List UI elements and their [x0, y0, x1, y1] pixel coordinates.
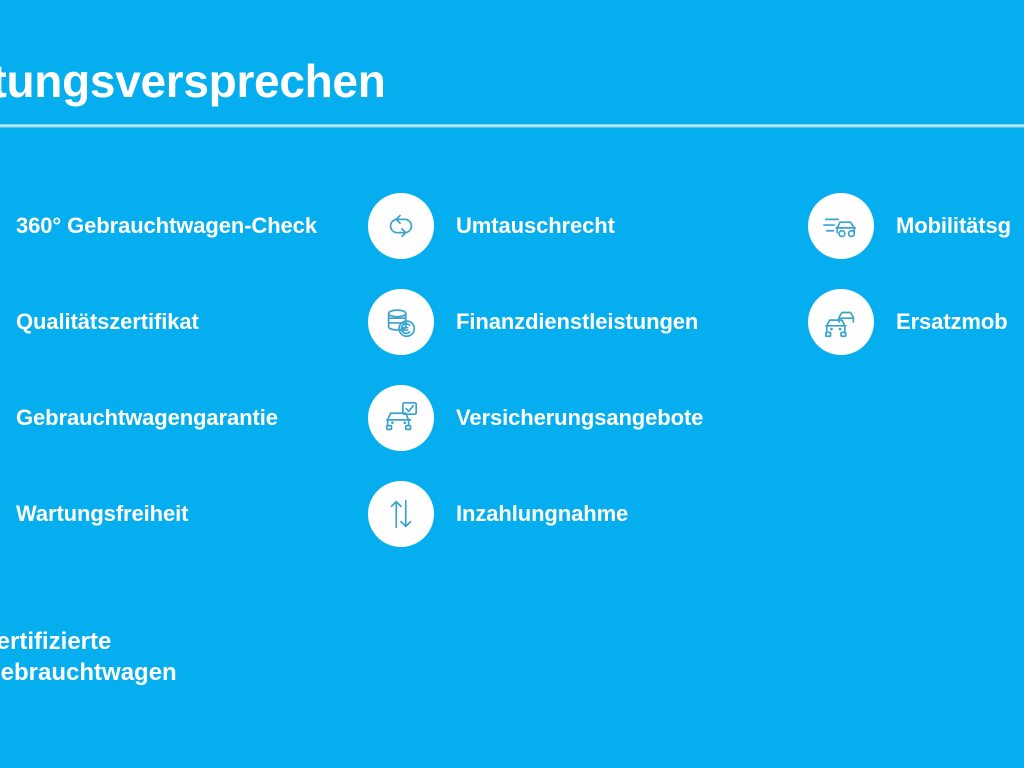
- feature-item[interactable]: Versicherungsangebote: [368, 370, 808, 466]
- car-motion-icon: [808, 193, 874, 259]
- feature-label: Inzahlungnahme: [456, 501, 628, 527]
- logo-lockup: Zertifizierte Gebrauchtwagen: [0, 626, 402, 688]
- car-checkmark-icon: [368, 385, 434, 451]
- feature-label: Qualitätszertifikat: [16, 309, 199, 335]
- feature-label: Ersatzmob: [896, 309, 1008, 335]
- two-cars-icon: [808, 289, 874, 355]
- features-grid: 360° Gebrauchtwagen-Check Qualitätszerti…: [0, 178, 1024, 598]
- feature-item[interactable]: 360° Gebrauchtwagen-Check: [0, 178, 398, 274]
- header-divider: [0, 124, 1024, 128]
- logo-line-1: Zertifizierte: [0, 626, 402, 657]
- logo-line-2: Gebrauchtwagen: [0, 657, 402, 688]
- slide-canvas: ere Leistungsversprechen 360° Gebrauchtw…: [0, 0, 1024, 768]
- feature-item[interactable]: Ersatzmob: [808, 274, 1024, 370]
- feature-item[interactable]: Qualitätszertifikat: [0, 274, 398, 370]
- feature-item[interactable]: Wartungsfreiheit: [0, 466, 398, 562]
- exchange-arrows-icon: [368, 193, 434, 259]
- feature-label: Umtauschrecht: [456, 213, 615, 239]
- feature-column-3: Mobilitätsg Ersatzmob: [808, 178, 1024, 370]
- header: ere Leistungsversprechen: [0, 46, 1024, 116]
- feature-label: Mobilitätsg: [896, 213, 1011, 239]
- feature-label: Versicherungsangebote: [456, 405, 703, 431]
- feature-label: Gebrauchtwagengarantie: [16, 405, 278, 431]
- feature-label: 360° Gebrauchtwagen-Check: [16, 213, 317, 239]
- feature-label: Finanzdienstleistungen: [456, 309, 698, 335]
- page-title: ere Leistungsversprechen: [0, 46, 1024, 116]
- feature-item[interactable]: Finanzdienstleistungen: [368, 274, 808, 370]
- coins-euro-icon: [368, 289, 434, 355]
- up-down-arrows-icon: [368, 481, 434, 547]
- feature-label: Wartungsfreiheit: [16, 501, 188, 527]
- feature-column-1: 360° Gebrauchtwagen-Check Qualitätszerti…: [0, 178, 398, 562]
- feature-item[interactable]: Umtauschrecht: [368, 178, 808, 274]
- feature-item[interactable]: Inzahlungnahme: [368, 466, 808, 562]
- feature-column-2: Umtauschrecht Finanzdienstleistun: [368, 178, 808, 562]
- feature-item[interactable]: Mobilitätsg: [808, 178, 1024, 274]
- feature-item[interactable]: Gebrauchtwagengarantie: [0, 370, 398, 466]
